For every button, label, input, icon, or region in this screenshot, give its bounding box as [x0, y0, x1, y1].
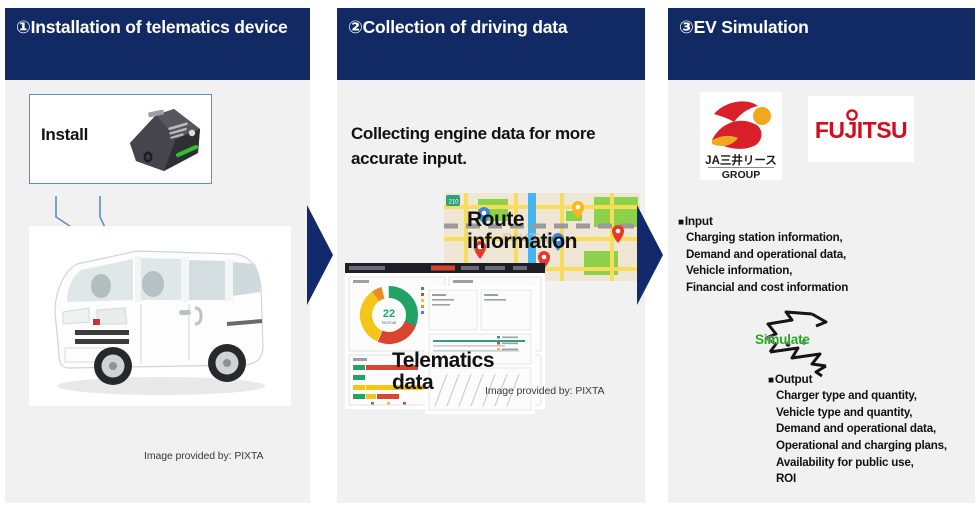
svg-text:210: 210: [449, 200, 460, 206]
input-heading: ■Input: [678, 213, 968, 230]
ja-mitsui-mark-icon: JA三井リース GROUP: [700, 92, 782, 180]
output-section: ■Output Charger type and quantity, Vehic…: [768, 371, 973, 488]
bullet-square-icon: ■: [678, 217, 684, 228]
image-credit-panel1: Image provided by: PIXTA: [144, 450, 263, 462]
input-item: Demand and operational data,: [686, 247, 968, 264]
install-callout-label: Install: [41, 125, 88, 145]
panel-collection: ②Collection of driving data Collecting e…: [337, 8, 645, 503]
svg-text:JA三井リース: JA三井リース: [705, 153, 777, 167]
white-kei-van-icon: [29, 226, 291, 406]
output-item: ROI: [776, 471, 973, 488]
flow-arrow-1-icon: [303, 205, 339, 305]
panel-simulation-body: JA三井リース GROUP FUJITSU ■Input: [668, 80, 975, 503]
svg-text:FUJITSU: FUJITSU: [815, 117, 907, 143]
output-item: Vehicle type and quantity,: [776, 405, 973, 422]
panel-installation: ①Installation of telematics device Insta…: [5, 8, 310, 503]
bullet-square-icon: ■: [768, 375, 774, 386]
ja-mitsui-leasing-logo: JA三井リース GROUP: [700, 92, 782, 180]
install-callout-box: Install: [29, 94, 212, 184]
vehicle-image: [29, 226, 291, 406]
output-items: Charger type and quantity, Vehicle type …: [768, 388, 973, 487]
partner-logos: JA三井リース GROUP FUJITSU: [690, 92, 960, 180]
simulate-label: Simulate: [755, 332, 810, 347]
panel-installation-header: ①Installation of telematics device: [5, 8, 310, 80]
output-item: Availability for public use,: [776, 455, 973, 472]
fujitsu-wordmark-icon: FUJITSU: [808, 96, 914, 162]
fujitsu-logo: FUJITSU: [808, 96, 914, 162]
input-section: ■Input Charging station information, Dem…: [678, 213, 968, 297]
panel-collection-body: Collecting engine data for more accurate…: [337, 80, 645, 503]
simulate-cycle: Simulate: [742, 308, 850, 378]
output-item: Demand and operational data,: [776, 421, 973, 438]
input-items: Charging station information, Demand and…: [678, 230, 968, 296]
svg-text:GROUP: GROUP: [722, 169, 761, 180]
route-information-label: Route information: [467, 209, 637, 253]
panel-installation-body: Install: [5, 80, 310, 503]
telematics-device-icon: [112, 103, 208, 177]
panel-simulation: ③EV Simulation JA三井リース GROUP: [668, 8, 975, 503]
svg-text:22: 22: [383, 308, 395, 320]
flow-arrow-2-icon: [633, 205, 669, 305]
ev-simulation-process-diagram: ①Installation of telematics device Insta…: [0, 0, 980, 518]
input-item: Financial and cost information: [686, 280, 968, 297]
image-credit-panel2: Image provided by: PIXTA: [485, 385, 604, 397]
input-item: Charging station information,: [686, 230, 968, 247]
collection-description: Collecting engine data for more accurate…: [351, 122, 631, 171]
input-item: Vehicle information,: [686, 263, 968, 280]
panel-collection-header: ②Collection of driving data: [337, 8, 645, 80]
output-item: Charger type and quantity,: [776, 388, 973, 405]
panel-simulation-header: ③EV Simulation: [668, 8, 975, 80]
svg-text:Normal: Normal: [382, 320, 397, 325]
output-heading: ■Output: [768, 371, 973, 388]
output-item: Operational and charging plans,: [776, 438, 973, 455]
